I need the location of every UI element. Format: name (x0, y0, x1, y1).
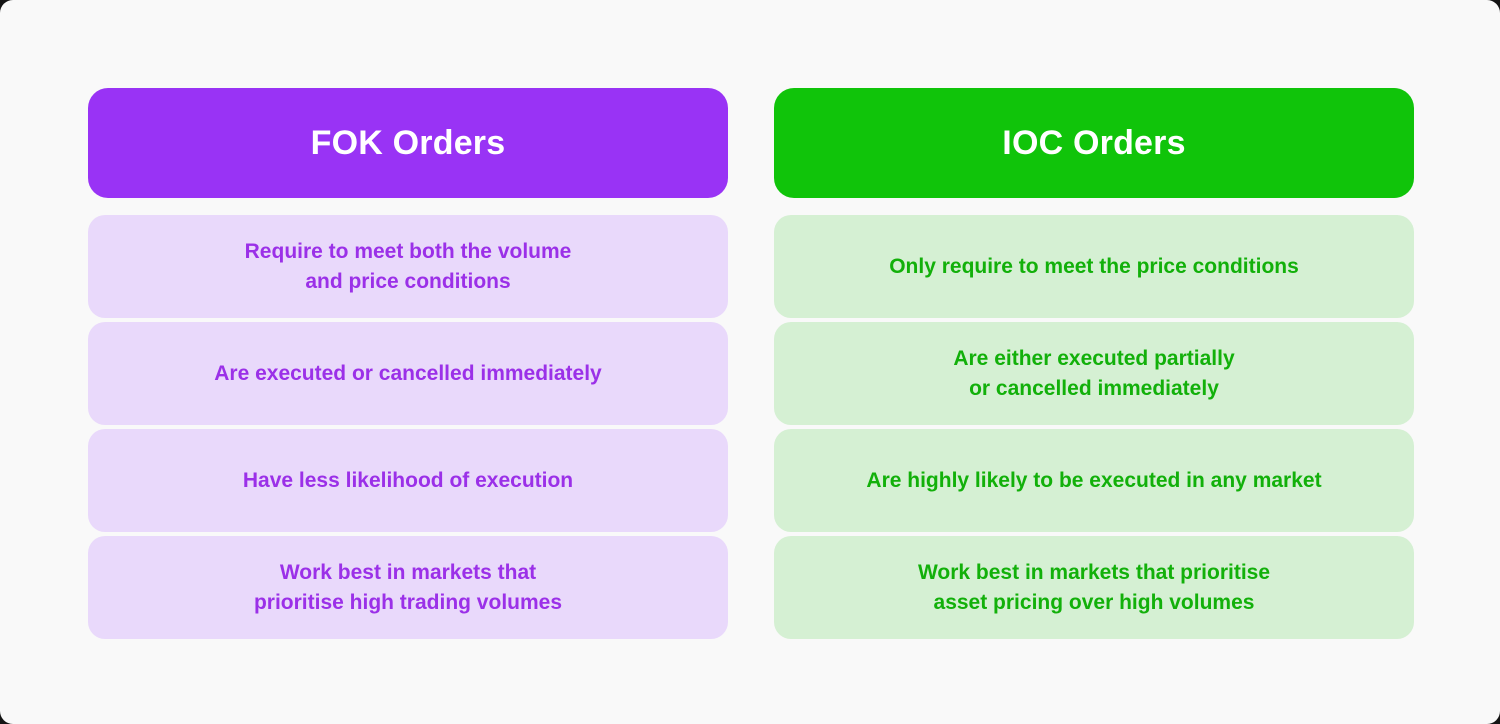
row-text-fok-4: Work best in markets that prioritise hig… (254, 558, 562, 618)
row-text-ioc-3: Are highly likely to be executed in any … (866, 466, 1321, 496)
list-item: Are highly likely to be executed in any … (774, 429, 1414, 532)
list-item: Are executed or cancelled immediately (88, 322, 728, 425)
row-text-ioc-4: Work best in markets that prioritise ass… (918, 558, 1270, 618)
row-text-ioc-2: Are either executed partially or cancell… (953, 344, 1234, 404)
column-header-ioc: IOC Orders (774, 88, 1414, 198)
list-item: Require to meet both the volume and pric… (88, 215, 728, 318)
list-item: Work best in markets that prioritise hig… (88, 536, 728, 639)
column-header-fok: FOK Orders (88, 88, 728, 198)
row-text-ioc-1: Only require to meet the price condition… (889, 252, 1299, 282)
list-item: Are either executed partially or cancell… (774, 322, 1414, 425)
row-text-fok-3: Have less likelihood of execution (243, 466, 573, 496)
column-fok: FOK Orders Require to meet both the volu… (88, 88, 728, 639)
row-text-fok-1: Require to meet both the volume and pric… (245, 237, 572, 297)
comparison-diagram-canvas: FOK Orders Require to meet both the volu… (0, 0, 1500, 724)
column-ioc: IOC Orders Only require to meet the pric… (774, 88, 1414, 639)
list-item: Work best in markets that prioritise ass… (774, 536, 1414, 639)
list-item: Have less likelihood of execution (88, 429, 728, 532)
comparison-columns: FOK Orders Require to meet both the volu… (88, 88, 1414, 639)
list-item: Only require to meet the price condition… (774, 215, 1414, 318)
row-text-fok-2: Are executed or cancelled immediately (214, 359, 602, 389)
